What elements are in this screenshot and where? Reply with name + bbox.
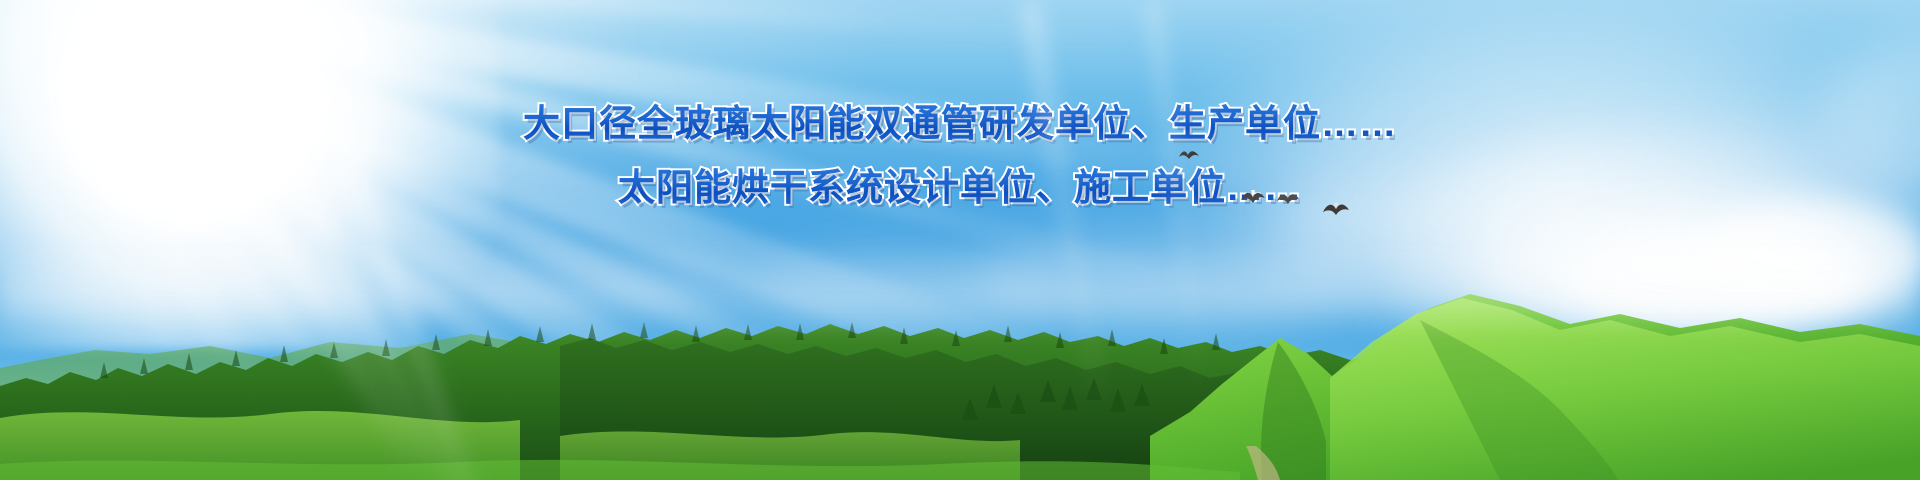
hero-banner: 大口径全玻璃太阳能双通管研发单位、生产单位……大口径全玻璃太阳能双通管研发单位、… — [0, 0, 1920, 480]
bird-icon — [1240, 188, 1266, 208]
cloud — [60, 60, 360, 190]
mountain-landscape — [0, 250, 1920, 480]
right-mountain-sunlit — [1330, 298, 1920, 480]
foreground-grass — [0, 460, 1240, 480]
bird-icon — [1322, 200, 1350, 220]
bird-icon — [1178, 148, 1200, 164]
bird-icon — [1276, 190, 1300, 208]
mountain-silhouette — [0, 250, 1920, 480]
